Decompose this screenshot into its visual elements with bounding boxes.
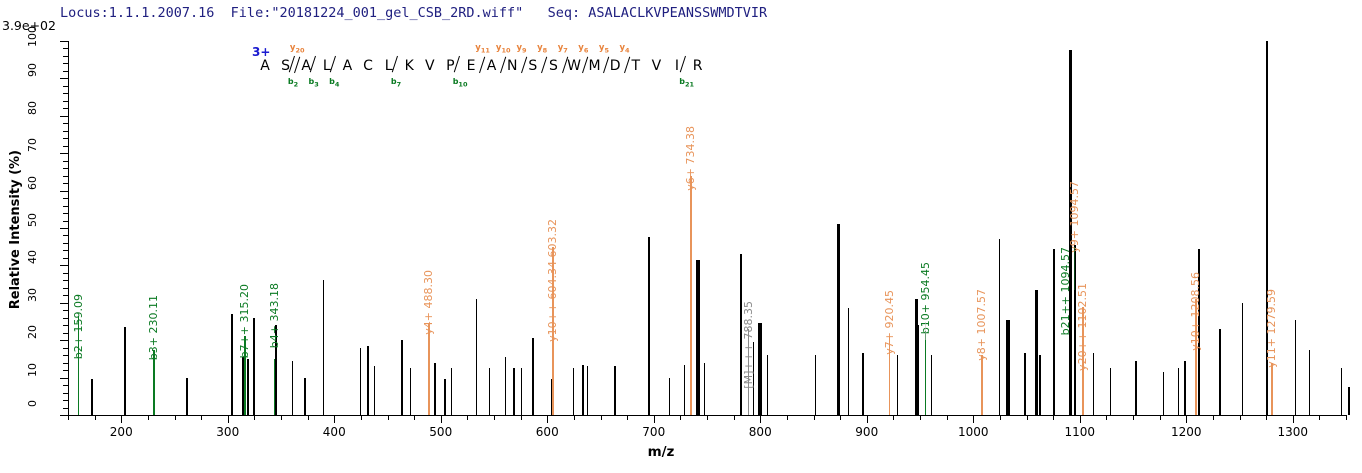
b-ion-label: b3 <box>309 77 319 89</box>
x-axis-minor-tick <box>1213 415 1214 420</box>
peak <box>999 239 1001 415</box>
x-axis-minor-tick <box>467 415 468 420</box>
x-axis-tick <box>973 415 974 423</box>
peak-label: y20++ 1102.51 <box>1076 283 1089 371</box>
peak <box>410 368 412 415</box>
x-axis-minor-tick <box>574 415 575 420</box>
y-ion-label: y20 <box>290 43 305 55</box>
peak <box>304 378 306 415</box>
sequence-residue: N <box>504 58 520 74</box>
peak <box>1341 368 1343 415</box>
peak <box>374 366 376 415</box>
b-ion-label: b21 <box>679 77 694 89</box>
peak-label: b7++ 315.20 <box>238 284 251 358</box>
peak <box>1219 329 1221 415</box>
y-ion-label: y4 <box>620 43 630 55</box>
peak-label: y8+ 1007.57 <box>975 289 988 361</box>
x-axis-minor-tick <box>388 415 389 420</box>
peak <box>648 237 650 415</box>
y-ion-label: y7 <box>558 43 568 55</box>
sequence-residue: W <box>566 58 582 74</box>
y-ion-label: y11 <box>475 43 490 55</box>
peptide-sequence-diagram: 3+ ASALACLKVPEANSSWMDTVIRb2b3b4b7b10b21y… <box>255 43 715 93</box>
x-axis-minor-tick <box>734 415 735 420</box>
y-axis-tick-label: 20 <box>26 325 56 339</box>
x-axis-minor-tick <box>494 415 495 420</box>
annotated-peak <box>690 176 692 415</box>
peak <box>434 363 436 415</box>
peak <box>767 355 769 415</box>
x-axis-tick <box>760 415 761 423</box>
x-axis-tick <box>1186 415 1187 423</box>
x-axis-tick-label: 900 <box>842 425 892 439</box>
spectrum-header: Locus:1.1.1.2007.16 File:"20181224_001_g… <box>60 5 1360 25</box>
sequence-residue: R <box>690 58 706 74</box>
x-axis-minor-tick <box>1346 415 1347 420</box>
peak-label: y4+ 488.30 <box>422 270 435 335</box>
peak <box>696 260 699 415</box>
b-ion-label: b7 <box>391 77 401 89</box>
y-axis-tick-label: 30 <box>26 288 56 302</box>
y-axis-tick <box>60 265 68 266</box>
y-axis-tick <box>60 378 68 379</box>
peak-label: y11+ 1279.59 <box>1265 289 1278 368</box>
peak <box>848 308 850 415</box>
peak <box>573 368 575 415</box>
peak <box>186 378 188 415</box>
label-connector <box>925 322 926 340</box>
peak-label: y7+ 920.45 <box>883 290 896 355</box>
x-axis-minor-tick <box>521 415 522 420</box>
y-axis-tick <box>60 303 68 304</box>
y-ion-label: y5 <box>599 43 609 55</box>
x-axis-minor-tick <box>1319 415 1320 420</box>
sequence-residue: M <box>587 58 603 74</box>
peak <box>815 355 817 415</box>
x-axis-minor-tick <box>308 415 309 420</box>
x-axis-minor-tick <box>1240 415 1241 420</box>
peak <box>1309 350 1311 415</box>
y-axis-tick-label: 70 <box>26 138 56 152</box>
peak <box>931 355 933 415</box>
peak <box>1039 355 1041 415</box>
y-axis-tick <box>60 415 68 416</box>
x-axis-tick-label: 500 <box>416 425 466 439</box>
y-axis-title: Relative Intensity (%) <box>8 150 23 309</box>
peak <box>758 323 761 415</box>
x-axis-minor-tick <box>1160 415 1161 420</box>
peak <box>837 224 840 415</box>
y-axis-tick-label: 10 <box>26 363 56 377</box>
peak <box>247 359 249 415</box>
y-axis-tick <box>60 116 68 117</box>
peak <box>684 365 686 415</box>
sequence-residue: V <box>648 58 664 74</box>
b-ion-label: b2 <box>288 77 298 89</box>
x-axis-tick <box>334 415 335 423</box>
x-axis-minor-tick <box>201 415 202 420</box>
y-axis-tick-label: 40 <box>26 250 56 264</box>
peak <box>91 379 93 415</box>
x-axis-minor-tick <box>68 415 69 420</box>
x-axis-tick-label: 1000 <box>948 425 998 439</box>
y-ion-label: y10 <box>496 43 511 55</box>
y-axis-tick <box>60 228 68 229</box>
x-axis-minor-tick <box>414 415 415 420</box>
peak <box>587 366 589 415</box>
sequence-residue: V <box>422 58 438 74</box>
y-axis-tick <box>60 153 68 154</box>
peak <box>1110 368 1112 415</box>
y-ion-label: y8 <box>537 43 547 55</box>
y-ion-label: y6 <box>578 43 588 55</box>
peak <box>323 280 325 415</box>
annotated-peak <box>428 323 430 415</box>
peak <box>367 346 369 415</box>
peak <box>704 363 706 415</box>
peak <box>521 368 523 415</box>
peak <box>253 318 255 415</box>
peak <box>1024 353 1026 415</box>
x-axis-tick-label: 700 <box>629 425 679 439</box>
y-axis-tick-label: 80 <box>26 101 56 115</box>
x-axis-title: m/z <box>0 444 1362 460</box>
x-axis-minor-tick <box>1106 415 1107 420</box>
x-axis-minor-tick <box>254 415 255 420</box>
b-ion-label: b4 <box>329 77 339 89</box>
peak <box>1053 249 1055 415</box>
peak <box>1135 361 1137 415</box>
x-axis-minor-tick <box>814 415 815 420</box>
y-axis-tick-label: 100 <box>26 26 56 47</box>
b-ion-label: b10 <box>453 77 468 89</box>
x-axis-minor-tick <box>840 415 841 420</box>
y-axis-tick-label: 0 <box>26 400 56 407</box>
mass-spectrum-plot: b2+ 159.09b3+ 230.11b7++ 315.20b4+ 343.1… <box>68 41 1345 415</box>
y-axis-tick-label: 50 <box>26 213 56 227</box>
peak <box>360 348 362 415</box>
x-axis-minor-tick <box>361 415 362 420</box>
x-axis-minor-tick <box>1266 415 1267 420</box>
peak <box>862 353 864 415</box>
peak-label: y9+ 1094.57 <box>1068 181 1081 253</box>
peak <box>1035 290 1038 415</box>
x-axis-minor-tick <box>95 415 96 420</box>
peak <box>1093 353 1095 415</box>
peak <box>897 355 899 415</box>
x-axis-minor-tick <box>1053 415 1054 420</box>
x-axis-minor-tick <box>627 415 628 420</box>
x-axis-minor-tick <box>175 415 176 420</box>
x-axis-minor-tick <box>281 415 282 420</box>
x-axis-minor-tick <box>601 415 602 420</box>
sequence-residue: A <box>257 58 273 74</box>
y-axis-tick <box>60 340 68 341</box>
y-axis-tick <box>60 41 68 42</box>
x-axis-tick <box>441 415 442 423</box>
peak-label: y10+ 1208.56 <box>1189 272 1202 351</box>
peak-label: y10++ 604.34 603.32 <box>546 219 559 342</box>
peak <box>532 338 534 415</box>
y-axis-tick <box>60 191 68 192</box>
peak <box>401 340 403 415</box>
peak <box>918 325 920 415</box>
peak <box>231 314 233 415</box>
x-axis-minor-tick <box>1000 415 1001 420</box>
x-axis-minor-tick <box>893 415 894 420</box>
sequence-residue: S <box>525 58 541 74</box>
x-axis-tick <box>867 415 868 423</box>
peak <box>489 368 491 415</box>
x-axis-tick-label: 600 <box>522 425 572 439</box>
peak <box>1184 361 1186 415</box>
x-axis-minor-tick <box>787 415 788 420</box>
x-axis-tick-label: 1300 <box>1268 425 1318 439</box>
x-axis-tick-label: 300 <box>203 425 253 439</box>
x-axis-tick-label: 1200 <box>1161 425 1211 439</box>
x-axis-tick <box>1080 415 1081 423</box>
peak-label: y6+ 734.38 <box>684 126 697 191</box>
annotated-peak <box>925 331 927 415</box>
peak-label: b2+ 159.09 <box>72 294 85 359</box>
y-axis-tick-label: 90 <box>26 63 56 77</box>
x-axis-tick <box>1293 415 1294 423</box>
peak-label: b4+ 343.18 <box>268 283 281 348</box>
y-axis-tick-label: 60 <box>26 176 56 190</box>
y-axis-tick <box>60 78 68 79</box>
sequence-residue: E <box>463 58 479 74</box>
x-axis-minor-tick <box>920 415 921 420</box>
precursor-charge-label: 3+ <box>252 45 270 59</box>
peak <box>451 368 453 415</box>
sequence-residue: D <box>607 58 623 74</box>
peak <box>614 366 616 415</box>
x-axis-tick <box>121 415 122 423</box>
peak <box>1006 320 1009 415</box>
peak <box>505 357 507 415</box>
peak <box>1348 387 1350 415</box>
peak <box>444 379 446 415</box>
peak <box>1295 320 1297 415</box>
sequence-residue: T <box>628 58 644 74</box>
x-axis-minor-tick <box>707 415 708 420</box>
x-axis-title-text: m/z <box>648 444 675 460</box>
x-axis-minor-tick <box>1133 415 1134 420</box>
peak <box>1178 368 1180 415</box>
peak <box>476 299 478 415</box>
y-ion-label: y9 <box>517 43 527 55</box>
x-axis-minor-tick <box>1027 415 1028 420</box>
x-axis-tick-label: 400 <box>309 425 359 439</box>
x-axis-tick-label: 1100 <box>1055 425 1105 439</box>
peak-label: b21++ 1094.57 <box>1059 247 1072 335</box>
x-axis-tick-label: 800 <box>735 425 785 439</box>
peak-label: [M]+++ 788.35 <box>742 301 755 389</box>
x-axis-minor-tick <box>680 415 681 420</box>
peak <box>513 368 515 415</box>
x-axis-tick-label: 200 <box>96 425 146 439</box>
peak-label: b3+ 230.11 <box>147 295 160 360</box>
sequence-residue: K <box>401 58 417 74</box>
x-axis-tick <box>547 415 548 423</box>
peak <box>669 378 671 415</box>
x-axis-tick <box>228 415 229 423</box>
peak <box>582 365 584 415</box>
sequence-residue: C <box>360 58 376 74</box>
x-axis-tick <box>654 415 655 423</box>
x-axis-minor-tick <box>947 415 948 420</box>
x-axis-minor-tick <box>148 415 149 420</box>
annotated-peak <box>981 355 983 415</box>
peak <box>124 327 126 415</box>
peak <box>1163 372 1165 415</box>
annotated-peak <box>1271 363 1273 415</box>
label-connector <box>1074 247 1075 290</box>
peak <box>292 361 294 415</box>
peak <box>1242 303 1244 415</box>
sequence-residue: A <box>484 58 500 74</box>
sequence-residue: A <box>339 58 355 74</box>
sequence-residue: S <box>545 58 561 74</box>
